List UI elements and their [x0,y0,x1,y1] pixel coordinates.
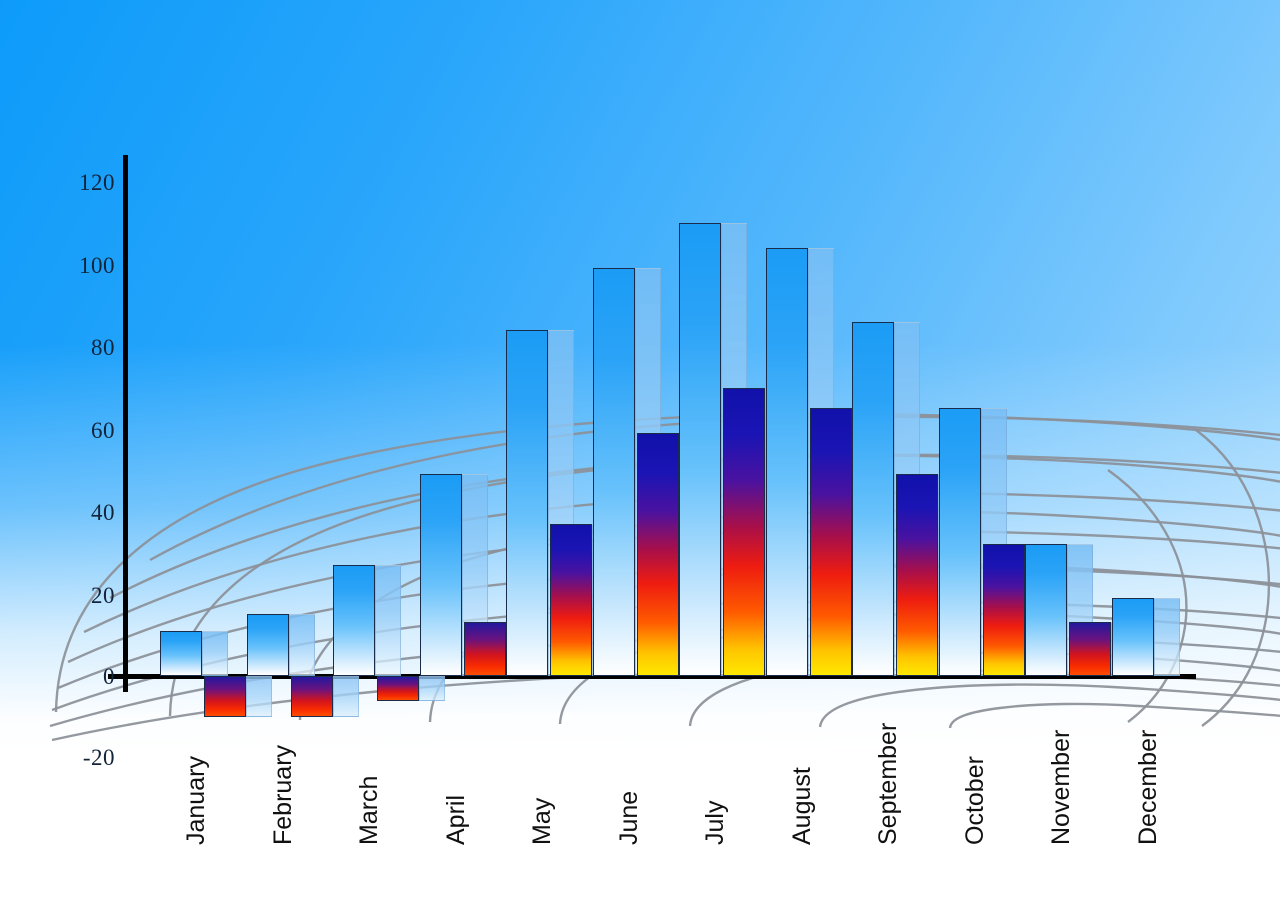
bar-series1-january-face [160,631,202,676]
bar-series1-march-side [375,565,401,676]
bar-series1-december-side [1154,598,1180,676]
bar-series1-march-face [333,565,375,676]
bar-series2-february-face [291,676,333,717]
plot-area: 120 100 80 60 40 20 0 -20 JanuaryFebruar… [0,0,1280,905]
bar-series1-november-face [1025,544,1067,676]
y-tick-80: 80 [91,335,115,361]
x-label-june: June [615,791,644,845]
y-tick-0: 0 [103,664,115,690]
bar-series2-march-side [419,676,445,701]
y-tick-60: 60 [91,418,115,444]
bar-series1-january [160,631,228,676]
bar-series2-september-face [896,474,938,676]
bar-series1-may-face [506,330,548,676]
y-axis-line [123,155,128,692]
x-label-may: May [528,798,557,845]
x-label-october: October [961,756,990,845]
x-label-february: February [269,745,298,845]
x-label-august: August [788,767,817,845]
x-label-september: September [874,723,903,845]
bar-series1-february-face [247,614,289,676]
y-tick-40: 40 [91,500,115,526]
x-label-december: December [1134,730,1163,845]
bar-series2-february-side [333,676,359,717]
bar-series2-october-face [983,544,1025,676]
bar-series1-february-side [289,614,315,676]
bar-series1-july-face [679,223,721,676]
bar-series1-june-face [593,268,635,676]
y-tick-100: 100 [79,253,115,279]
bar-series1-september-face [852,322,894,676]
x-label-november: November [1047,730,1076,845]
chart-canvas: 120 100 80 60 40 20 0 -20 JanuaryFebruar… [0,0,1280,905]
bar-series1-january-side [202,631,228,676]
bar-series1-august-face [766,248,808,676]
bar-series2-march-face [377,676,419,701]
bar-series2-january-face [204,676,246,717]
bar-series2-july-face [723,388,765,676]
x-label-march: March [355,776,384,845]
bar-series2-january [204,676,272,717]
x-label-january: January [182,756,211,845]
bar-series1-december [1112,598,1180,676]
bar-series2-november-face [1069,622,1111,676]
bar-series2-march [377,676,445,701]
y-tick-minus-20: -20 [83,745,115,771]
y-tick-20: 20 [91,583,115,609]
bar-series2-february [291,676,359,717]
bar-series1-april-face [420,474,462,676]
bar-series2-may-face [550,524,592,676]
x-label-april: April [442,795,471,845]
bar-series1-december-face [1112,598,1154,676]
x-label-july: July [701,801,730,845]
bar-series1-march [333,565,401,676]
bar-series2-january-side [246,676,272,717]
y-tick-120: 120 [79,170,115,196]
bar-series2-august-face [810,408,852,676]
bar-series1-february [247,614,315,676]
bar-series2-june-face [637,433,679,676]
bar-series2-april-face [464,622,506,676]
bar-series1-october-face [939,408,981,676]
